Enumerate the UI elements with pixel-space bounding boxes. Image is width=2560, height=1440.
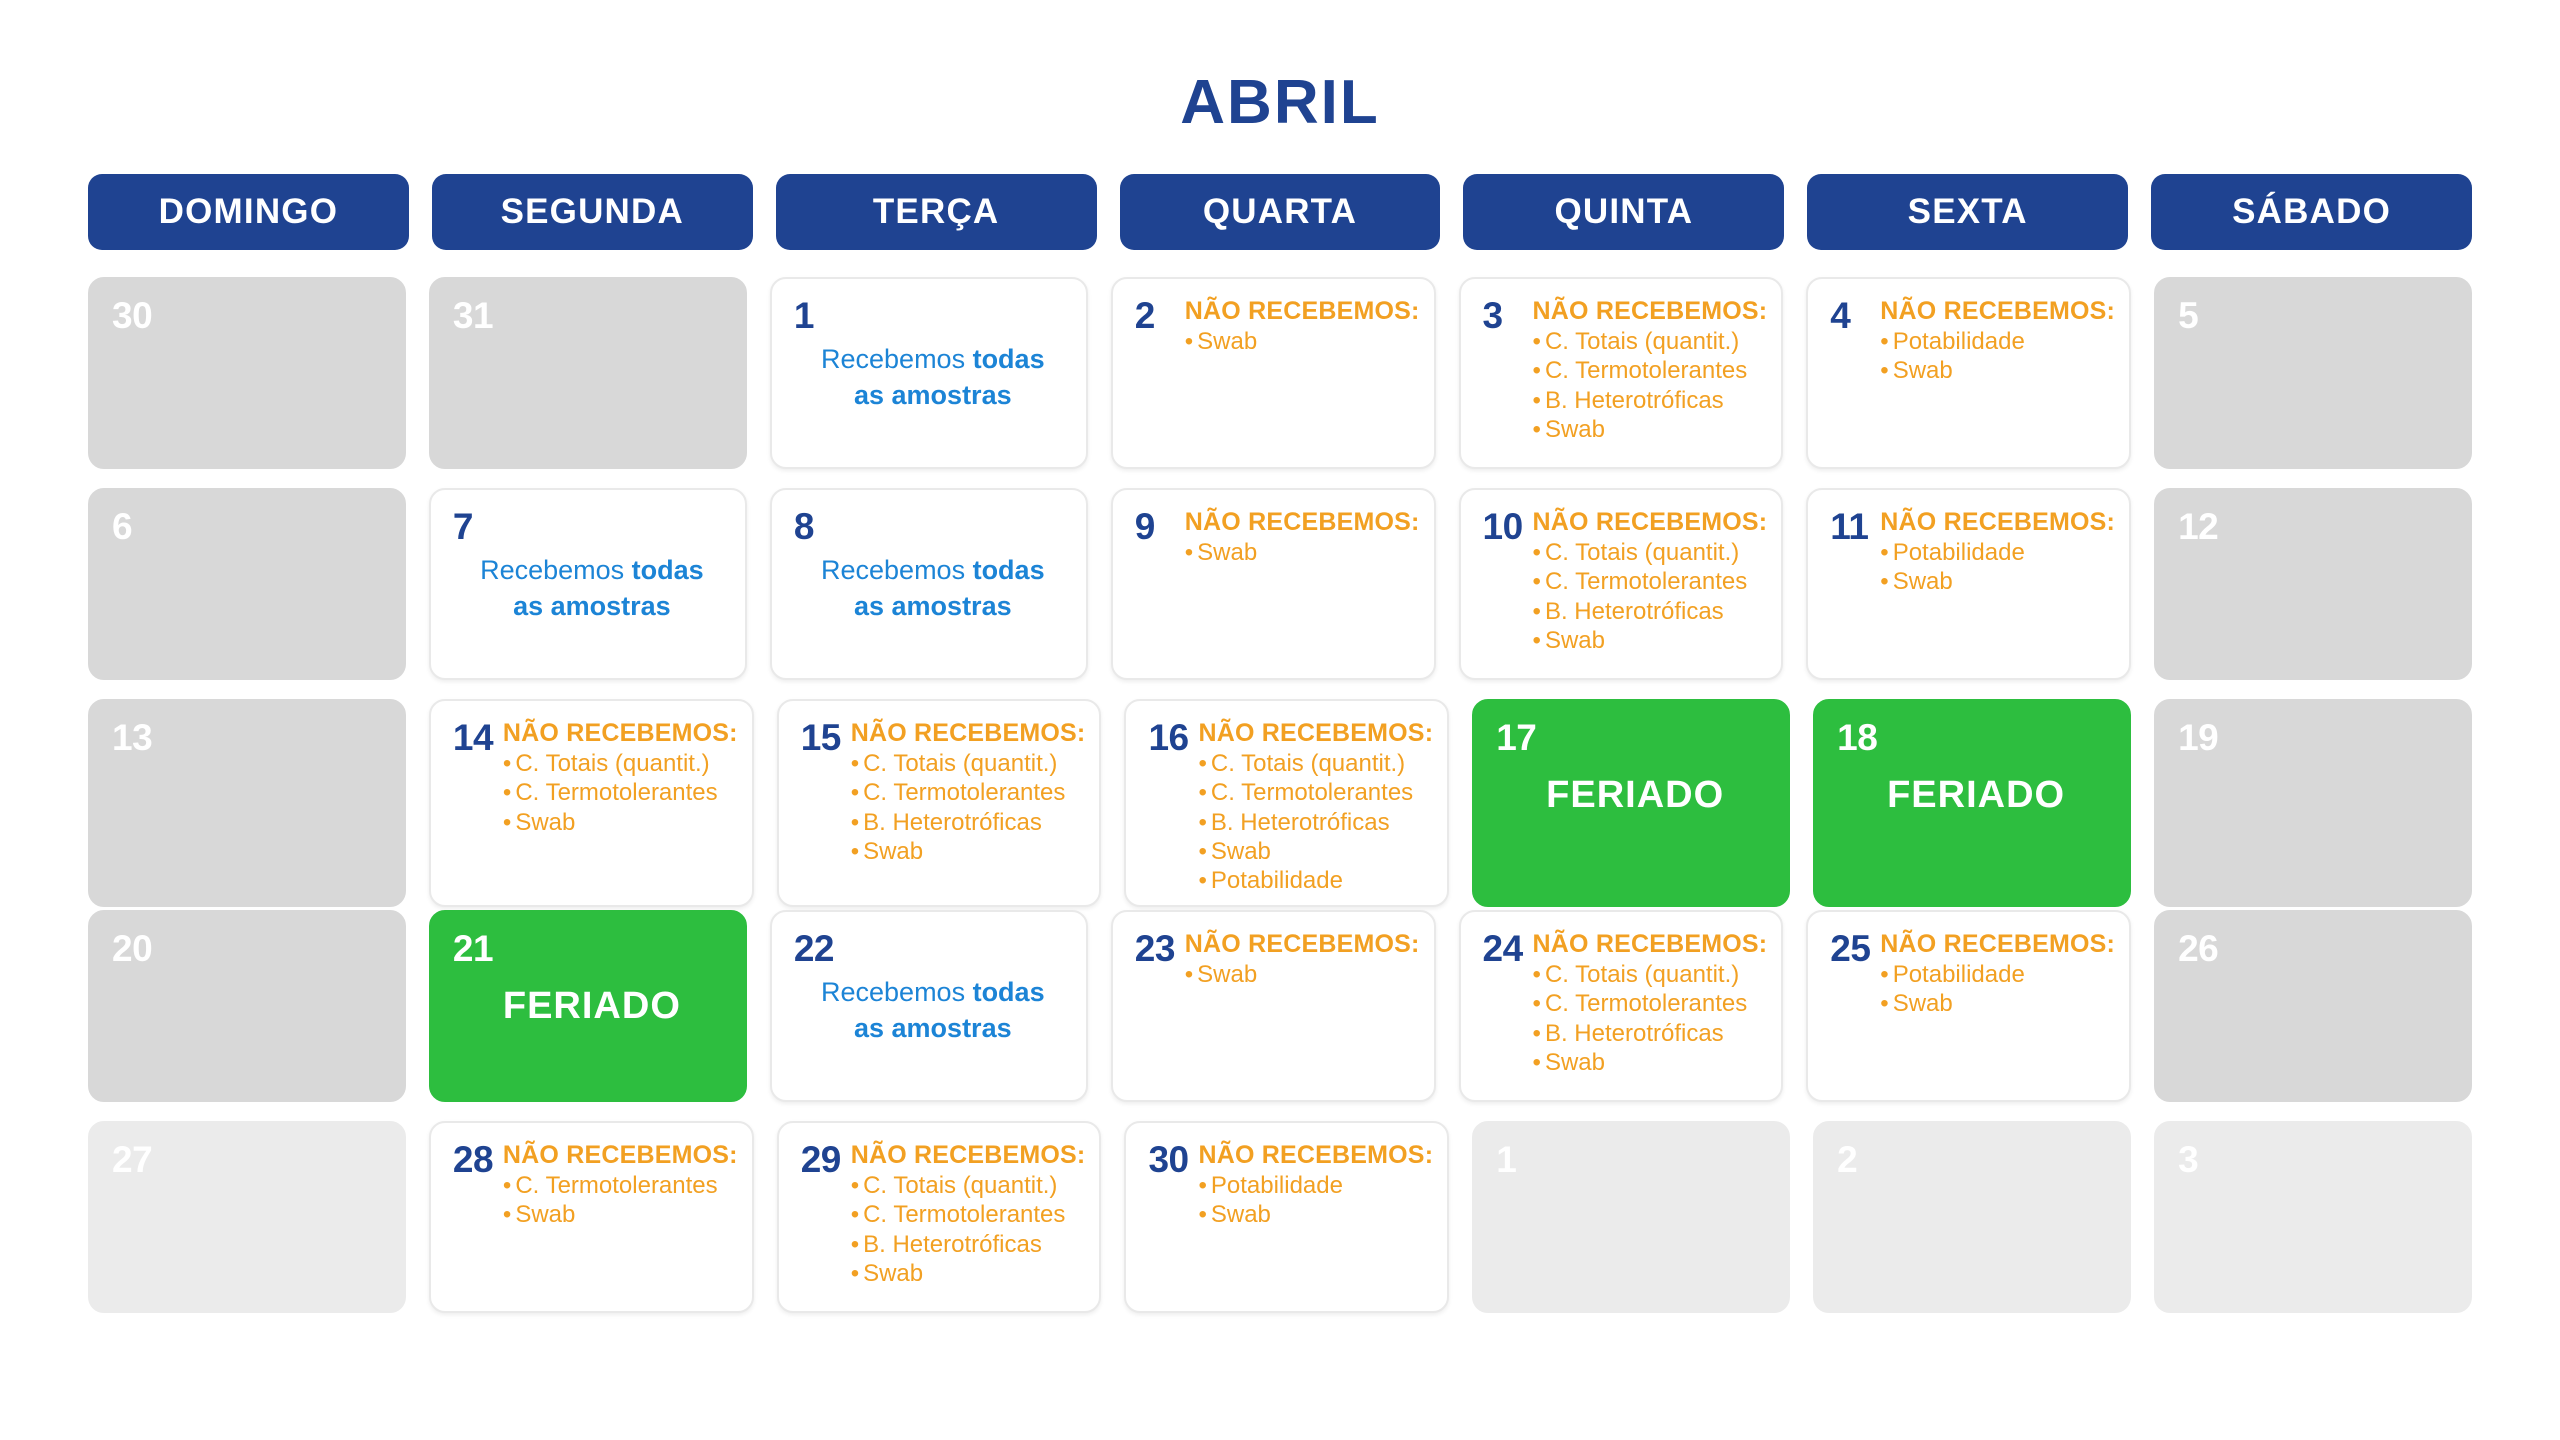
list-item: •C. Totais (quantit.) <box>1533 327 1768 356</box>
bullet-icon: • <box>1198 838 1206 865</box>
bullet-icon: • <box>503 1172 511 1199</box>
list-item: •C. Termotolerantes <box>1198 778 1433 807</box>
list-item-label: Potabilidade <box>1211 867 1343 894</box>
not-received-item-list: •C. Termotolerantes•Swab <box>503 1171 738 1230</box>
list-item-label: C. Totais (quantit.) <box>1545 539 1739 566</box>
bullet-icon: • <box>1198 1172 1206 1199</box>
not-received-item-list: •Potabilidade•Swab <box>1880 538 2115 597</box>
day-cell-2[interactable]: 2 <box>1813 1121 2131 1313</box>
bullet-icon: • <box>851 809 859 836</box>
not-received-title-colon: : <box>1411 508 1420 536</box>
not-received-title-text: NÃO RECEBEMOS <box>1880 297 2106 325</box>
not-received-item-list: •C. Totais (quantit.)•C. Termotolerantes… <box>1198 749 1433 895</box>
not-received-title-colon: : <box>1411 930 1420 958</box>
not-received-block: NÃO RECEBEMOS:•C. Totais (quantit.)•C. T… <box>847 1141 1086 1288</box>
not-received-block: NÃO RECEBEMOS:•Swab <box>1181 297 1420 356</box>
not-received-item-list: •Potabilidade•Swab <box>1880 327 2115 386</box>
day-cell-12[interactable]: 12 <box>2154 488 2472 680</box>
all-samples-bold-text-1: todas <box>973 344 1045 374</box>
not-received-title-colon: : <box>729 719 738 747</box>
list-item-label: C. Totais (quantit.) <box>515 750 709 777</box>
day-cell-19[interactable]: 19 <box>2154 699 2472 907</box>
week-row: 2021FERIADO22Recebemos todasas amostras2… <box>88 910 2472 1102</box>
day-cell-13[interactable]: 13 <box>88 699 406 907</box>
list-item: •Swab <box>503 808 738 837</box>
not-received-title-colon: : <box>1759 297 1768 325</box>
not-received-title: NÃO RECEBEMOS: <box>851 1141 1086 1169</box>
day-number: 19 <box>2178 719 2224 756</box>
day-cell-11[interactable]: 11NÃO RECEBEMOS:•Potabilidade•Swab <box>1806 488 2131 680</box>
day-number: 6 <box>112 508 158 545</box>
list-item: •Swab <box>1533 415 1768 444</box>
bullet-icon: • <box>1880 539 1888 566</box>
day-cell-6[interactable]: 6 <box>88 488 406 680</box>
list-item-label: Swab <box>1893 568 1953 595</box>
not-received-title: NÃO RECEBEMOS: <box>1533 297 1768 325</box>
bullet-icon: • <box>1533 539 1541 566</box>
bullet-icon: • <box>1533 598 1541 625</box>
day-cell-27[interactable]: 27 <box>88 1121 406 1313</box>
list-item-label: Swab <box>515 809 575 836</box>
not-received-block: NÃO RECEBEMOS:•Swab <box>1181 930 1420 989</box>
list-item: •Swab <box>1880 567 2115 596</box>
all-samples-message: Recebemos todasas amostras <box>794 342 1072 413</box>
list-item-label: C. Totais (quantit.) <box>1545 328 1739 355</box>
day-cell-1[interactable]: 1Recebemos todasas amostras <box>770 277 1088 469</box>
day-cell-20[interactable]: 20 <box>88 910 406 1102</box>
all-samples-bold-text-1: todas <box>632 555 704 585</box>
all-samples-normal-text: Recebemos <box>821 344 973 374</box>
list-item-label: B. Heterotróficas <box>863 1231 1042 1258</box>
list-item-label: B. Heterotróficas <box>1211 809 1390 836</box>
not-received-block: NÃO RECEBEMOS:•Potabilidade•Swab <box>1876 508 2115 597</box>
list-item: •C. Totais (quantit.) <box>851 749 1086 778</box>
bullet-icon: • <box>1880 990 1888 1017</box>
bullet-icon: • <box>1198 779 1206 806</box>
day-cell-8[interactable]: 8Recebemos todasas amostras <box>770 488 1088 680</box>
weekday-header-label: QUARTA <box>1203 192 1357 232</box>
day-cell-18[interactable]: 18FERIADO <box>1813 699 2131 907</box>
day-number: 17 <box>1496 719 1774 756</box>
weekday-header-1: SEGUNDA <box>432 174 753 250</box>
list-item-label: B. Heterotróficas <box>863 809 1042 836</box>
bullet-icon: • <box>503 1201 511 1228</box>
not-received-title-colon: : <box>1759 930 1768 958</box>
bullet-icon: • <box>1185 539 1193 566</box>
list-item-label: Swab <box>1211 1201 1271 1228</box>
week-row: 67Recebemos todasas amostras8Recebemos t… <box>88 488 2472 680</box>
bullet-icon: • <box>503 809 511 836</box>
bullet-icon: • <box>503 779 511 806</box>
not-received-title-text: NÃO RECEBEMOS <box>1880 508 2106 536</box>
not-received-item-list: •C. Totais (quantit.)•C. Termotolerantes… <box>503 749 738 837</box>
not-received-title-text: NÃO RECEBEMOS <box>1198 719 1424 747</box>
list-item: •Swab <box>1880 989 2115 1018</box>
day-number: 7 <box>453 508 731 545</box>
day-cell-16[interactable]: 16NÃO RECEBEMOS:•C. Totais (quantit.)•C.… <box>1124 699 1449 907</box>
not-received-item-list: •C. Totais (quantit.)•C. Termotolerantes… <box>1533 327 1768 444</box>
list-item: •Potabilidade <box>1198 1171 1433 1200</box>
day-cell-31[interactable]: 31 <box>429 277 747 469</box>
list-item-label: C. Totais (quantit.) <box>1211 750 1405 777</box>
not-received-title: NÃO RECEBEMOS: <box>1533 508 1768 536</box>
all-samples-bold-text-2: as amostras <box>513 591 671 621</box>
not-received-block: NÃO RECEBEMOS:•C. Totais (quantit.)•C. T… <box>1194 719 1433 895</box>
bullet-icon: • <box>851 1172 859 1199</box>
not-received-title-text: NÃO RECEBEMOS <box>851 719 1077 747</box>
list-item: •Swab <box>1198 1200 1433 1229</box>
day-cell-26[interactable]: 26 <box>2154 910 2472 1102</box>
bullet-icon: • <box>1880 328 1888 355</box>
weekday-header-5: SEXTA <box>1807 174 2128 250</box>
not-received-item-list: •Potabilidade•Swab <box>1880 960 2115 1019</box>
not-received-block: NÃO RECEBEMOS:•C. Totais (quantit.)•C. T… <box>1529 508 1768 655</box>
not-received-title-text: NÃO RECEBEMOS <box>1185 508 1411 536</box>
day-number: 2 <box>1135 297 1181 334</box>
list-item: •Potabilidade <box>1880 538 2115 567</box>
list-item-label: C. Termotolerantes <box>515 1172 717 1199</box>
bullet-icon: • <box>1533 357 1541 384</box>
not-received-title-text: NÃO RECEBEMOS <box>1533 508 1759 536</box>
not-received-block: NÃO RECEBEMOS:•C. Totais (quantit.)•C. T… <box>1529 930 1768 1077</box>
list-item: •C. Termotolerantes <box>1533 356 1768 385</box>
not-received-title-text: NÃO RECEBEMOS <box>851 1141 1077 1169</box>
list-item: •C. Termotolerantes <box>851 1200 1086 1229</box>
list-item-label: B. Heterotróficas <box>1545 598 1724 625</box>
day-number: 3 <box>2178 1141 2224 1178</box>
day-number: 26 <box>2178 930 2224 967</box>
bullet-icon: • <box>1198 750 1206 777</box>
day-cell-22[interactable]: 22Recebemos todasas amostras <box>770 910 1088 1102</box>
bullet-icon: • <box>851 779 859 806</box>
list-item: •C. Totais (quantit.) <box>1533 960 1768 989</box>
list-item-label: Swab <box>1893 990 1953 1017</box>
list-item-label: B. Heterotróficas <box>1545 1020 1724 1047</box>
list-item-label: Swab <box>1197 328 1257 355</box>
list-item-label: C. Termotolerantes <box>863 779 1065 806</box>
list-item-label: Potabilidade <box>1893 328 2025 355</box>
not-received-title-colon: : <box>1759 508 1768 536</box>
day-cell-3[interactable]: 3 <box>2154 1121 2472 1313</box>
list-item: •Swab <box>851 837 1086 866</box>
day-number: 12 <box>2178 508 2224 545</box>
list-item: •C. Totais (quantit.) <box>1533 538 1768 567</box>
bullet-icon: • <box>851 838 859 865</box>
day-cell-30[interactable]: 30 <box>88 277 406 469</box>
bullet-icon: • <box>1185 328 1193 355</box>
day-cell-17[interactable]: 17FERIADO <box>1472 699 1790 907</box>
day-number: 20 <box>112 930 158 967</box>
weekday-header-label: SEXTA <box>1908 192 2028 232</box>
not-received-block: NÃO RECEBEMOS:•Potabilidade•Swab <box>1876 297 2115 386</box>
day-number: 28 <box>453 1141 499 1178</box>
week-row: 30311Recebemos todasas amostras2NÃO RECE… <box>88 277 2472 469</box>
day-number: 22 <box>794 930 1072 967</box>
list-item-label: Potabilidade <box>1893 539 2025 566</box>
bullet-icon: • <box>1533 627 1541 654</box>
bullet-icon: • <box>1533 990 1541 1017</box>
list-item-label: Swab <box>863 838 923 865</box>
weekday-header-label: SEGUNDA <box>501 192 684 232</box>
day-number: 25 <box>1830 930 1876 967</box>
day-number: 9 <box>1135 508 1181 545</box>
day-number: 27 <box>112 1141 158 1178</box>
bullet-icon: • <box>1185 961 1193 988</box>
week-row: 2728NÃO RECEBEMOS:•C. Termotolerantes•Sw… <box>88 1121 2472 1313</box>
bullet-icon: • <box>1198 1201 1206 1228</box>
day-cell-14[interactable]: 14NÃO RECEBEMOS:•C. Totais (quantit.)•C.… <box>429 699 754 907</box>
day-cell-5[interactable]: 5 <box>2154 277 2472 469</box>
weekday-header-6: SÁBADO <box>2151 174 2472 250</box>
not-received-title-text: NÃO RECEBEMOS <box>1533 297 1759 325</box>
list-item: •C. Totais (quantit.) <box>503 749 738 778</box>
not-received-title-text: NÃO RECEBEMOS <box>503 1141 729 1169</box>
bullet-icon: • <box>1533 328 1541 355</box>
not-received-item-list: •C. Totais (quantit.)•C. Termotolerantes… <box>1533 538 1768 655</box>
not-received-title: NÃO RECEBEMOS: <box>1880 508 2115 536</box>
not-received-title-text: NÃO RECEBEMOS <box>1533 930 1759 958</box>
all-samples-normal-text: Recebemos <box>821 555 973 585</box>
list-item: •C. Termotolerantes <box>1533 567 1768 596</box>
list-item: •B. Heterotróficas <box>851 1230 1086 1259</box>
not-received-title-text: NÃO RECEBEMOS <box>1185 297 1411 325</box>
not-received-title-text: NÃO RECEBEMOS <box>1880 930 2106 958</box>
list-item-label: Swab <box>1211 838 1271 865</box>
list-item: •B. Heterotróficas <box>1533 1019 1768 1048</box>
weekday-header-row: DOMINGOSEGUNDATERÇAQUARTAQUINTASEXTASÁBA… <box>88 174 2472 250</box>
list-item-label: Swab <box>1197 961 1257 988</box>
list-item-label: Swab <box>515 1201 575 1228</box>
list-item-label: Swab <box>863 1260 923 1287</box>
not-received-title-text: NÃO RECEBEMOS <box>1185 930 1411 958</box>
bullet-icon: • <box>503 750 511 777</box>
not-received-block: NÃO RECEBEMOS:•Potabilidade•Swab <box>1194 1141 1433 1230</box>
list-item-label: Swab <box>1197 539 1257 566</box>
day-number: 10 <box>1483 508 1529 545</box>
not-received-title: NÃO RECEBEMOS: <box>851 719 1086 747</box>
day-number: 23 <box>1135 930 1181 967</box>
holiday-label: FERIADO <box>1837 774 2115 817</box>
all-samples-message: Recebemos todasas amostras <box>794 553 1072 624</box>
day-cell-29[interactable]: 29NÃO RECEBEMOS:•C. Totais (quantit.)•C.… <box>777 1121 1102 1313</box>
not-received-title: NÃO RECEBEMOS: <box>1880 930 2115 958</box>
all-samples-normal-text: Recebemos <box>480 555 632 585</box>
day-cell-15[interactable]: 15NÃO RECEBEMOS:•C. Totais (quantit.)•C.… <box>777 699 1102 907</box>
bullet-icon: • <box>1533 1049 1541 1076</box>
not-received-title-colon: : <box>2107 297 2116 325</box>
all-samples-bold-text-1: todas <box>973 555 1045 585</box>
not-received-title: NÃO RECEBEMOS: <box>1185 930 1420 958</box>
not-received-title: NÃO RECEBEMOS: <box>1198 719 1433 747</box>
list-item-label: Swab <box>1545 416 1605 443</box>
not-received-block: NÃO RECEBEMOS:•C. Termotolerantes•Swab <box>499 1141 738 1230</box>
not-received-block: NÃO RECEBEMOS:•C. Totais (quantit.)•C. T… <box>847 719 1086 866</box>
list-item-label: Swab <box>1545 1049 1605 1076</box>
calendar-root: ABRIL DOMINGOSEGUNDATERÇAQUARTAQUINTASEX… <box>0 0 2560 1440</box>
bullet-icon: • <box>1198 867 1206 894</box>
day-number: 30 <box>1148 1141 1194 1178</box>
list-item: •Potabilidade <box>1198 866 1433 895</box>
list-item: •B. Heterotróficas <box>1198 808 1433 837</box>
not-received-title-colon: : <box>1425 719 1434 747</box>
not-received-block: NÃO RECEBEMOS:•Swab <box>1181 508 1420 567</box>
bullet-icon: • <box>1533 1020 1541 1047</box>
list-item: •B. Heterotróficas <box>1533 597 1768 626</box>
not-received-item-list: •C. Totais (quantit.)•C. Termotolerantes… <box>1533 960 1768 1077</box>
list-item-label: C. Totais (quantit.) <box>1545 961 1739 988</box>
weekday-header-label: QUINTA <box>1554 192 1693 232</box>
not-received-item-list: •C. Totais (quantit.)•C. Termotolerantes… <box>851 749 1086 866</box>
day-cell-25[interactable]: 25NÃO RECEBEMOS:•Potabilidade•Swab <box>1806 910 2131 1102</box>
list-item: •Potabilidade <box>1880 327 2115 356</box>
day-cell-10[interactable]: 10NÃO RECEBEMOS:•C. Totais (quantit.)•C.… <box>1459 488 1784 680</box>
day-number: 1 <box>1496 1141 1542 1178</box>
list-item: •Swab <box>1185 538 1420 567</box>
day-number: 31 <box>453 297 499 334</box>
list-item-label: Swab <box>1893 357 1953 384</box>
all-samples-message: Recebemos todasas amostras <box>794 975 1072 1046</box>
not-received-title-colon: : <box>1077 1141 1086 1169</box>
day-number: 29 <box>801 1141 847 1178</box>
not-received-item-list: •Swab <box>1185 327 1420 356</box>
all-samples-bold-text-2: as amostras <box>854 1013 1012 1043</box>
not-received-title: NÃO RECEBEMOS: <box>1185 297 1420 325</box>
list-item: •B. Heterotróficas <box>1533 386 1768 415</box>
day-cell-1[interactable]: 1 <box>1472 1121 1790 1313</box>
bullet-icon: • <box>1533 961 1541 988</box>
not-received-title-text: NÃO RECEBEMOS <box>503 719 729 747</box>
list-item-label: C. Termotolerantes <box>1545 568 1747 595</box>
not-received-title-colon: : <box>1077 719 1086 747</box>
bullet-icon: • <box>1533 416 1541 443</box>
not-received-title: NÃO RECEBEMOS: <box>503 1141 738 1169</box>
day-cell-28[interactable]: 28NÃO RECEBEMOS:•C. Termotolerantes•Swab <box>429 1121 754 1313</box>
week-row: 1314NÃO RECEBEMOS:•C. Totais (quantit.)•… <box>88 699 2472 891</box>
not-received-title-colon: : <box>1425 1141 1434 1169</box>
day-cell-24[interactable]: 24NÃO RECEBEMOS:•C. Totais (quantit.)•C.… <box>1459 910 1784 1102</box>
day-number: 24 <box>1483 930 1529 967</box>
not-received-title-colon: : <box>729 1141 738 1169</box>
day-cell-3[interactable]: 3NÃO RECEBEMOS:•C. Totais (quantit.)•C. … <box>1459 277 1784 469</box>
list-item: •Swab <box>1533 1048 1768 1077</box>
list-item: •C. Termotolerantes <box>503 1171 738 1200</box>
list-item: •Potabilidade <box>1880 960 2115 989</box>
day-number: 16 <box>1148 719 1194 756</box>
all-samples-bold-text-2: as amostras <box>854 380 1012 410</box>
list-item: •Swab <box>1198 837 1433 866</box>
calendar-grid: 30311Recebemos todasas amostras2NÃO RECE… <box>88 277 2472 1313</box>
day-cell-21[interactable]: 21FERIADO <box>429 910 747 1102</box>
not-received-title-colon: : <box>2107 508 2116 536</box>
bullet-icon: • <box>1880 357 1888 384</box>
bullet-icon: • <box>1880 961 1888 988</box>
not-received-title-text: NÃO RECEBEMOS <box>1198 1141 1424 1169</box>
day-number: 30 <box>112 297 158 334</box>
day-cell-4[interactable]: 4NÃO RECEBEMOS:•Potabilidade•Swab <box>1806 277 2131 469</box>
bullet-icon: • <box>851 1231 859 1258</box>
weekday-header-3: QUARTA <box>1120 174 1441 250</box>
list-item-label: C. Termotolerantes <box>1545 357 1747 384</box>
holiday-label: FERIADO <box>1496 774 1774 817</box>
not-received-item-list: •C. Totais (quantit.)•C. Termotolerantes… <box>851 1171 1086 1288</box>
list-item: •Swab <box>851 1259 1086 1288</box>
all-samples-normal-text: Recebemos <box>821 977 973 1007</box>
bullet-icon: • <box>851 750 859 777</box>
weekday-header-label: SÁBADO <box>2232 192 2391 232</box>
list-item: •B. Heterotróficas <box>851 808 1086 837</box>
list-item: •C. Termotolerantes <box>1533 989 1768 1018</box>
list-item: •C. Termotolerantes <box>851 778 1086 807</box>
not-received-title: NÃO RECEBEMOS: <box>1185 508 1420 536</box>
day-number: 21 <box>453 930 731 967</box>
all-samples-message: Recebemos todasas amostras <box>453 553 731 624</box>
day-number: 3 <box>1483 297 1529 334</box>
all-samples-bold-text-2: as amostras <box>854 591 1012 621</box>
holiday-label: FERIADO <box>453 985 731 1028</box>
list-item-label: Potabilidade <box>1893 961 2025 988</box>
list-item-label: C. Termotolerantes <box>863 1201 1065 1228</box>
weekday-header-label: DOMINGO <box>159 192 339 232</box>
not-received-title: NÃO RECEBEMOS: <box>503 719 738 747</box>
weekday-header-0: DOMINGO <box>88 174 409 250</box>
all-samples-bold-text-1: todas <box>973 977 1045 1007</box>
list-item-label: C. Termotolerantes <box>515 779 717 806</box>
day-number: 11 <box>1830 508 1876 545</box>
day-number: 15 <box>801 719 847 756</box>
list-item-label: Swab <box>1545 627 1605 654</box>
not-received-block: NÃO RECEBEMOS:•C. Totais (quantit.)•C. T… <box>1529 297 1768 444</box>
day-number: 13 <box>112 719 158 756</box>
not-received-title: NÃO RECEBEMOS: <box>1198 1141 1433 1169</box>
day-number: 8 <box>794 508 1072 545</box>
not-received-item-list: •Potabilidade•Swab <box>1198 1171 1433 1230</box>
list-item: •Swab <box>503 1200 738 1229</box>
list-item: •Swab <box>1880 356 2115 385</box>
bullet-icon: • <box>1533 568 1541 595</box>
day-cell-30[interactable]: 30NÃO RECEBEMOS:•Potabilidade•Swab <box>1124 1121 1449 1313</box>
day-cell-7[interactable]: 7Recebemos todasas amostras <box>429 488 747 680</box>
day-number: 14 <box>453 719 499 756</box>
not-received-item-list: •Swab <box>1185 960 1420 989</box>
day-number: 2 <box>1837 1141 1883 1178</box>
bullet-icon: • <box>1533 387 1541 414</box>
list-item: •C. Termotolerantes <box>503 778 738 807</box>
bullet-icon: • <box>851 1201 859 1228</box>
not-received-block: NÃO RECEBEMOS:•Potabilidade•Swab <box>1876 930 2115 1019</box>
not-received-title: NÃO RECEBEMOS: <box>1880 297 2115 325</box>
not-received-item-list: •Swab <box>1185 538 1420 567</box>
bullet-icon: • <box>851 1260 859 1287</box>
list-item-label: Potabilidade <box>1211 1172 1343 1199</box>
day-cell-2[interactable]: 2NÃO RECEBEMOS:•Swab <box>1111 277 1436 469</box>
not-received-block: NÃO RECEBEMOS:•C. Totais (quantit.)•C. T… <box>499 719 738 837</box>
day-number: 4 <box>1830 297 1876 334</box>
list-item-label: C. Termotolerantes <box>1211 779 1413 806</box>
day-cell-9[interactable]: 9NÃO RECEBEMOS:•Swab <box>1111 488 1436 680</box>
day-number: 5 <box>2178 297 2224 334</box>
bullet-icon: • <box>1880 568 1888 595</box>
day-number: 1 <box>794 297 1072 334</box>
not-received-title-colon: : <box>2107 930 2116 958</box>
not-received-title: NÃO RECEBEMOS: <box>1533 930 1768 958</box>
list-item-label: B. Heterotróficas <box>1545 387 1724 414</box>
day-number: 18 <box>1837 719 2115 756</box>
list-item-label: C. Totais (quantit.) <box>863 1172 1057 1199</box>
list-item-label: C. Totais (quantit.) <box>863 750 1057 777</box>
day-cell-23[interactable]: 23NÃO RECEBEMOS:•Swab <box>1111 910 1436 1102</box>
list-item-label: C. Termotolerantes <box>1545 990 1747 1017</box>
page-title: ABRIL <box>88 72 2472 134</box>
